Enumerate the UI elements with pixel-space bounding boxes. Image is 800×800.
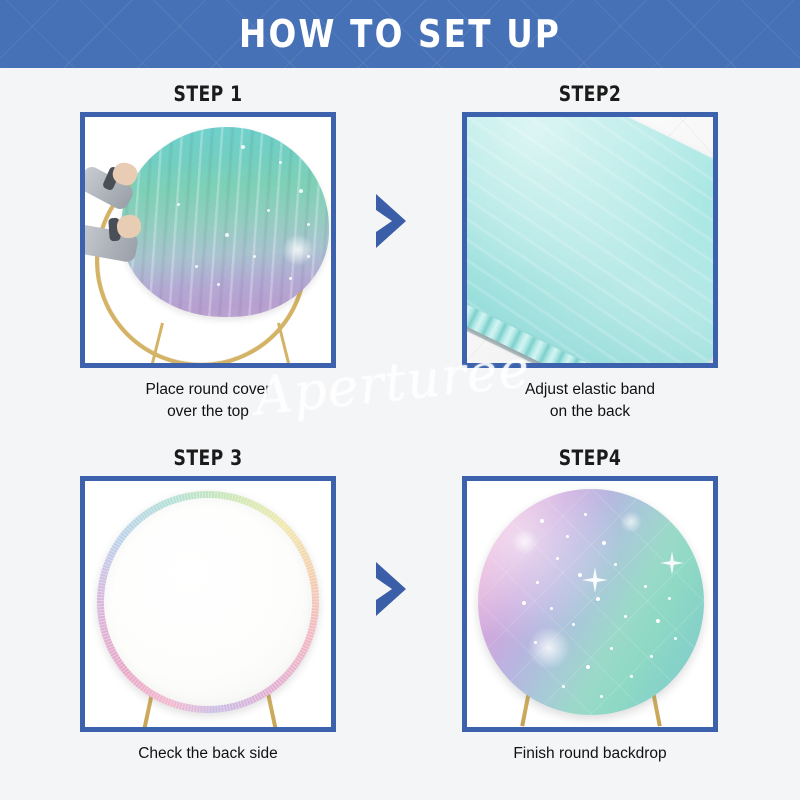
- caption-line: Check the back side: [80, 743, 336, 765]
- caption-line: Place round cover: [80, 379, 336, 401]
- step-caption-3: Check the back side: [80, 743, 336, 765]
- step-label-1: STEP 1: [103, 82, 313, 106]
- chevron-right-icon-top: [372, 192, 412, 250]
- gradient-cover-fabric: [121, 127, 329, 317]
- step-label-2: STEP2: [485, 82, 695, 106]
- caption-line: Finish round backdrop: [462, 743, 718, 765]
- page-title: HOW TO SET UP: [56, 0, 744, 68]
- step-image-3: [80, 476, 336, 732]
- header-banner: HOW TO SET UP: [0, 0, 800, 68]
- step-caption-2: Adjust elastic band on the back: [462, 379, 718, 423]
- step-image-4: [462, 476, 718, 732]
- step-card-2: STEP2 Adjust elastic band on the back: [462, 82, 718, 423]
- finished-backdrop: [478, 489, 704, 715]
- caption-line: over the top: [80, 401, 336, 423]
- caption-line: on the back: [462, 401, 718, 423]
- step-card-4: STEP4: [462, 446, 718, 765]
- step-caption-1: Place round cover over the top: [80, 379, 336, 423]
- step-image-1: [80, 112, 336, 368]
- how-to-set-up-infographic: HOW TO SET UP Aperturee STEP 1: [0, 0, 800, 800]
- step-label-4: STEP4: [485, 446, 695, 470]
- step-card-1: STEP 1: [80, 82, 336, 423]
- step-card-3: STEP 3 Check the back side: [80, 446, 336, 765]
- step-label-3: STEP 3: [103, 446, 313, 470]
- chevron-right-icon-bottom: [372, 560, 412, 618]
- mint-cover-fabric: [462, 112, 718, 368]
- caption-line: Adjust elastic band: [462, 379, 718, 401]
- backdrop-back-side: [97, 491, 319, 713]
- step-caption-4: Finish round backdrop: [462, 743, 718, 765]
- step-image-2: [462, 112, 718, 368]
